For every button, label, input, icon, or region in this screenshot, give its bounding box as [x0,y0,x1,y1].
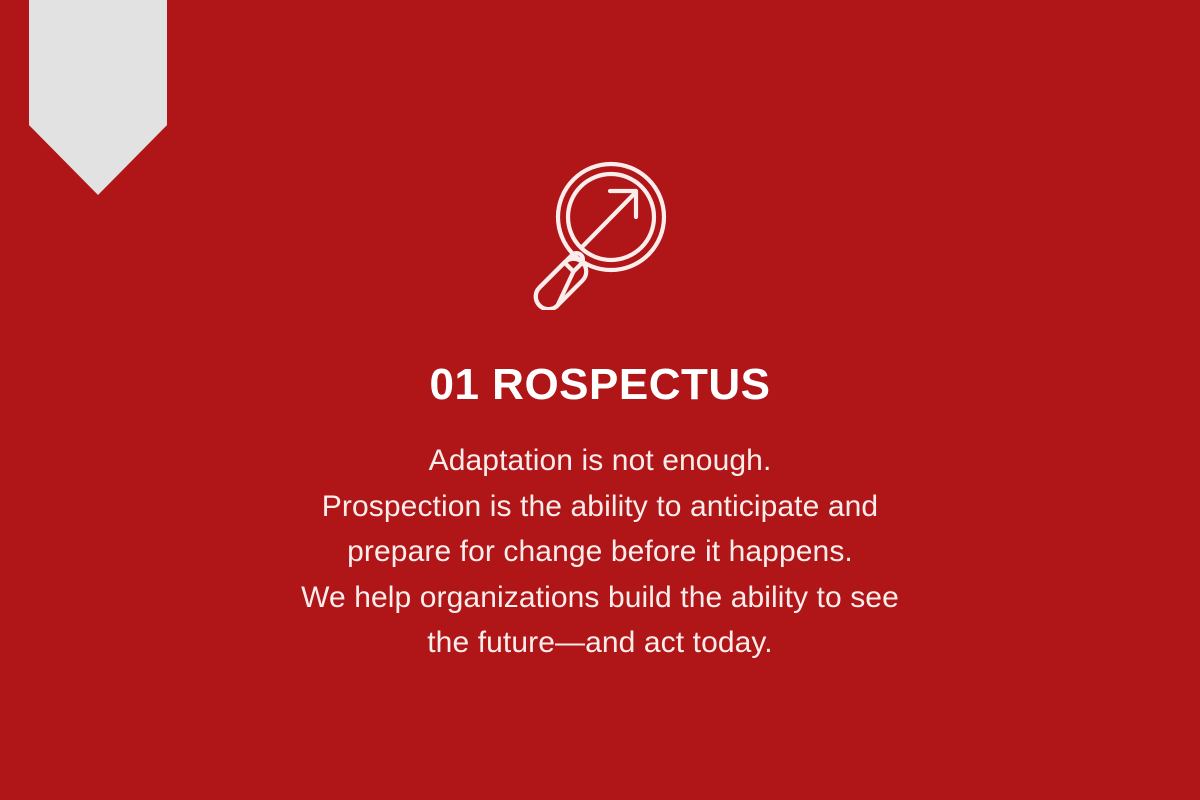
text-content-block: 01 ROSPECTUS Adaptation is not enough. P… [0,362,1200,666]
slide-canvas: 01 ROSPECTUS Adaptation is not enough. P… [0,0,1200,800]
icon-container [0,158,1200,310]
body-copy: Adaptation is not enough. Prospection is… [60,408,1140,666]
body-line: the future—and act today. [60,620,1140,666]
arrow-shaft [583,193,635,246]
body-line: Adaptation is not enough. [60,438,1140,484]
page-title: 01 ROSPECTUS [60,362,1140,408]
body-line: Prospection is the ability to anticipate… [60,484,1140,530]
magnifier-arrow-icon [525,158,675,310]
body-line: prepare for change before it happens. [60,529,1140,575]
body-line: We help organizations build the ability … [60,575,1140,621]
